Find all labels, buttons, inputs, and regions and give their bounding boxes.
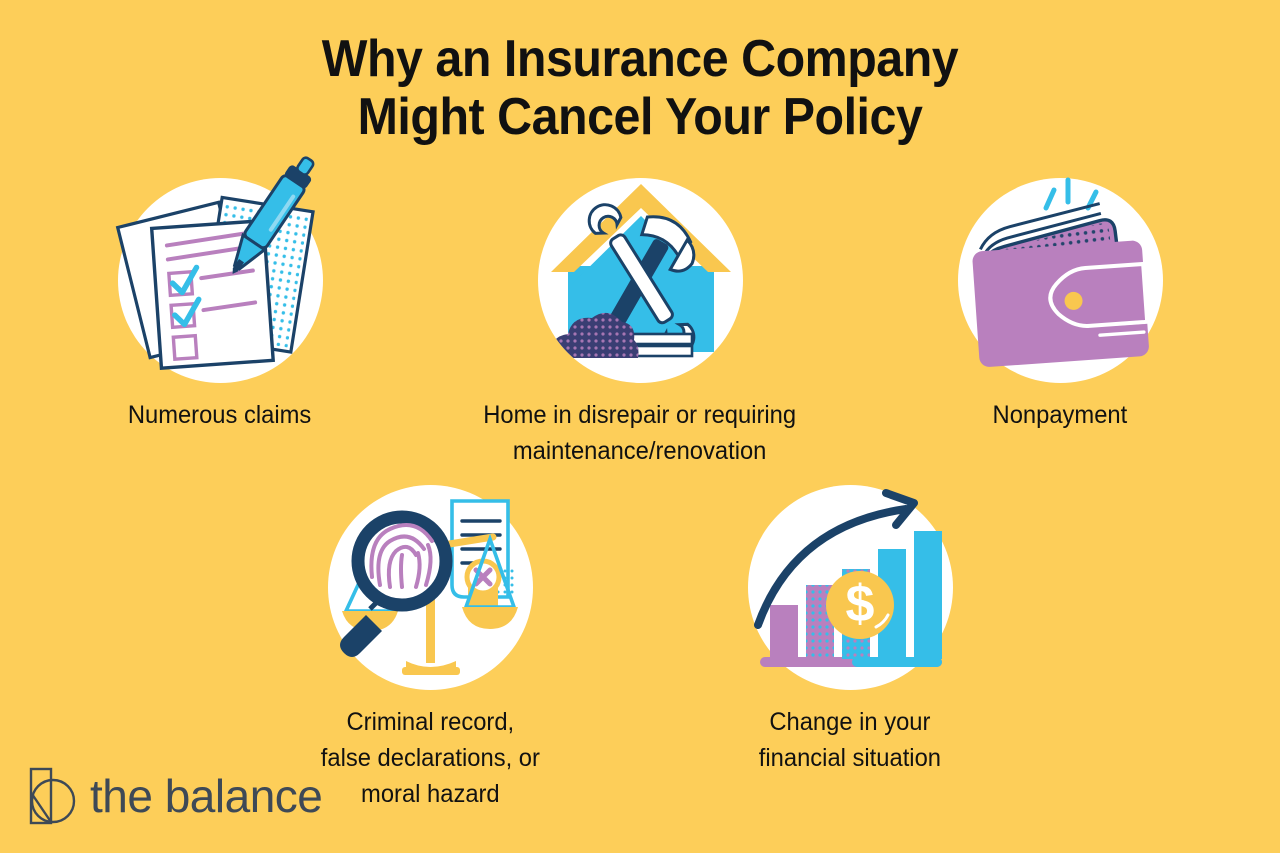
reasons-row-bottom: Criminal record, false declarations, or … bbox=[0, 485, 1280, 812]
claim-forms-icon bbox=[118, 178, 323, 383]
reason-item-criminal-record: Criminal record, false declarations, or … bbox=[220, 485, 640, 812]
reason-item-numerous-claims: Numerous claims bbox=[10, 178, 430, 469]
reason-item-nonpayment: Nonpayment bbox=[850, 178, 1270, 469]
title-line-2: Might Cancel Your Policy bbox=[45, 88, 1235, 146]
balance-b-logo-icon bbox=[28, 767, 76, 825]
empty-wallet-icon bbox=[958, 178, 1163, 383]
reason-item-home-in-disrepair: Home in disrepair or requiring maintenan… bbox=[430, 178, 850, 469]
svg-text:$: $ bbox=[845, 575, 874, 633]
fraud-investigation-icon bbox=[328, 485, 533, 690]
site-logo[interactable]: the balance bbox=[28, 767, 322, 825]
reason-caption: Home in disrepair or requiring maintenan… bbox=[484, 397, 797, 469]
logo-text: the balance bbox=[90, 773, 322, 819]
infographic-canvas: Why an Insurance Company Might Cancel Yo… bbox=[0, 0, 1280, 853]
reasons-row-top: Numerous claims bbox=[0, 178, 1280, 469]
page-title: Why an Insurance Company Might Cancel Yo… bbox=[0, 30, 1280, 146]
house-repair-icon bbox=[538, 178, 743, 383]
title-line-1: Why an Insurance Company bbox=[45, 30, 1235, 88]
reason-caption: Change in your financial situation bbox=[759, 704, 941, 776]
reason-caption: Nonpayment bbox=[993, 397, 1128, 433]
reason-caption: Numerous claims bbox=[128, 397, 311, 433]
rising-chart-icon: $ bbox=[748, 485, 953, 690]
reason-item-financial-change: $ Change in your financial situation bbox=[640, 485, 1060, 812]
reason-caption: Criminal record, false declarations, or … bbox=[320, 704, 539, 812]
